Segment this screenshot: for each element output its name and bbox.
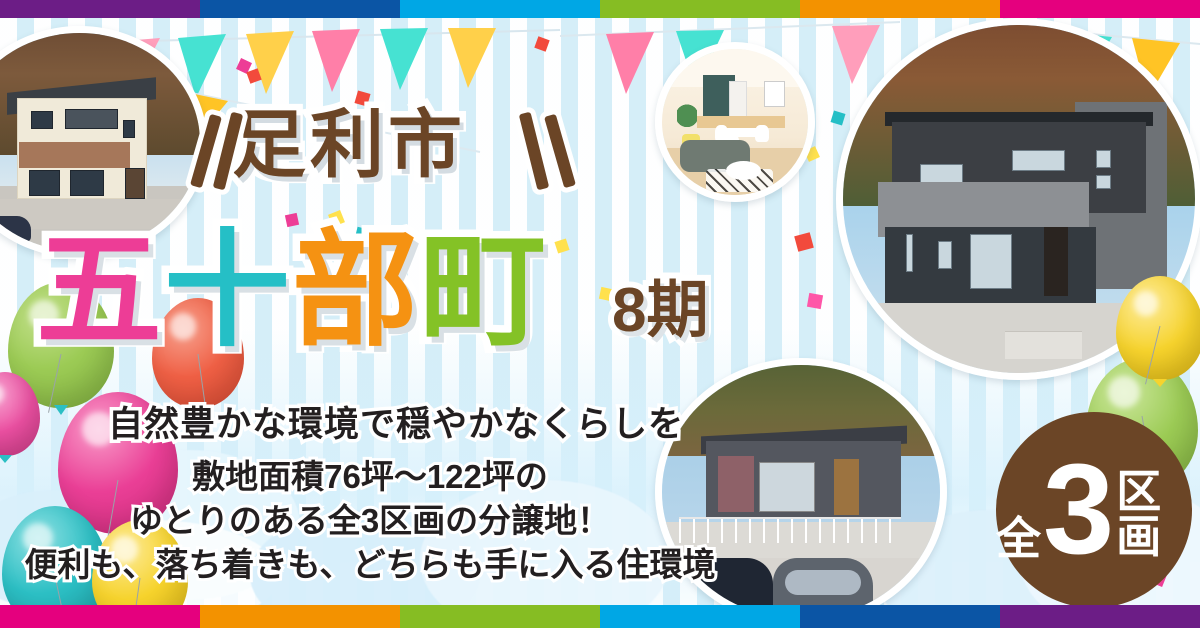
decorative-slash-left <box>196 112 266 202</box>
top-bar-segment-2 <box>400 0 600 18</box>
decorative-slash-right <box>520 112 600 202</box>
top-color-bar <box>0 0 1200 18</box>
bottom-bar-segment-0 <box>0 605 200 628</box>
description-line-1: 敷地面積76坪〜122坪の <box>0 455 740 499</box>
bottom-bar-segment-5 <box>1000 605 1200 628</box>
photo-interior-living-dining <box>655 42 815 202</box>
top-bar-segment-3 <box>600 0 800 18</box>
top-bar-segment-5 <box>1000 0 1200 18</box>
bottom-bar-segment-2 <box>400 605 600 628</box>
title-kanji-1: 十 <box>164 220 292 361</box>
bottom-bar-segment-4 <box>800 605 1000 628</box>
top-bar-segment-0 <box>0 0 200 18</box>
phase-label: 8期 <box>612 280 708 342</box>
page-subtitle-city: 足利市 <box>232 108 466 182</box>
description-line-2: ゆとりのある全3区画の分譲地！ <box>0 499 740 543</box>
description-block: 敷地面積76坪〜122坪の ゆとりのある全3区画の分譲地！ 便利も、落ち着きも、… <box>0 455 740 587</box>
badge-suffix: 区画 <box>1116 469 1192 559</box>
real-estate-banner: 足利市 五十部町 8期 自然豊かな環境で穏やかなくらしを 敷地面積76坪〜122… <box>0 0 1200 628</box>
tagline: 自然豊かな環境で穏やかなくらしを <box>108 396 684 447</box>
bottom-bar-segment-3 <box>600 605 800 628</box>
lot-count-badge: 全 3 区画 <box>996 412 1192 608</box>
bottom-color-bar <box>0 605 1200 628</box>
page-title: 五十部町 <box>36 228 548 354</box>
badge-prefix: 全 <box>996 516 1041 561</box>
balloon-pink-bottom <box>0 372 40 456</box>
bottom-bar-segment-1 <box>200 605 400 628</box>
title-kanji-0: 五 <box>36 220 164 361</box>
description-line-3: 便利も、落ち着きも、どちらも手に入る住環境 <box>0 543 740 587</box>
top-bar-segment-4 <box>800 0 1000 18</box>
balloon-yellow-right <box>1116 276 1200 380</box>
title-kanji-3: 町 <box>420 220 548 361</box>
title-kanji-2: 部 <box>292 220 420 361</box>
top-bar-segment-1 <box>200 0 400 18</box>
badge-count: 3 <box>1043 455 1114 565</box>
